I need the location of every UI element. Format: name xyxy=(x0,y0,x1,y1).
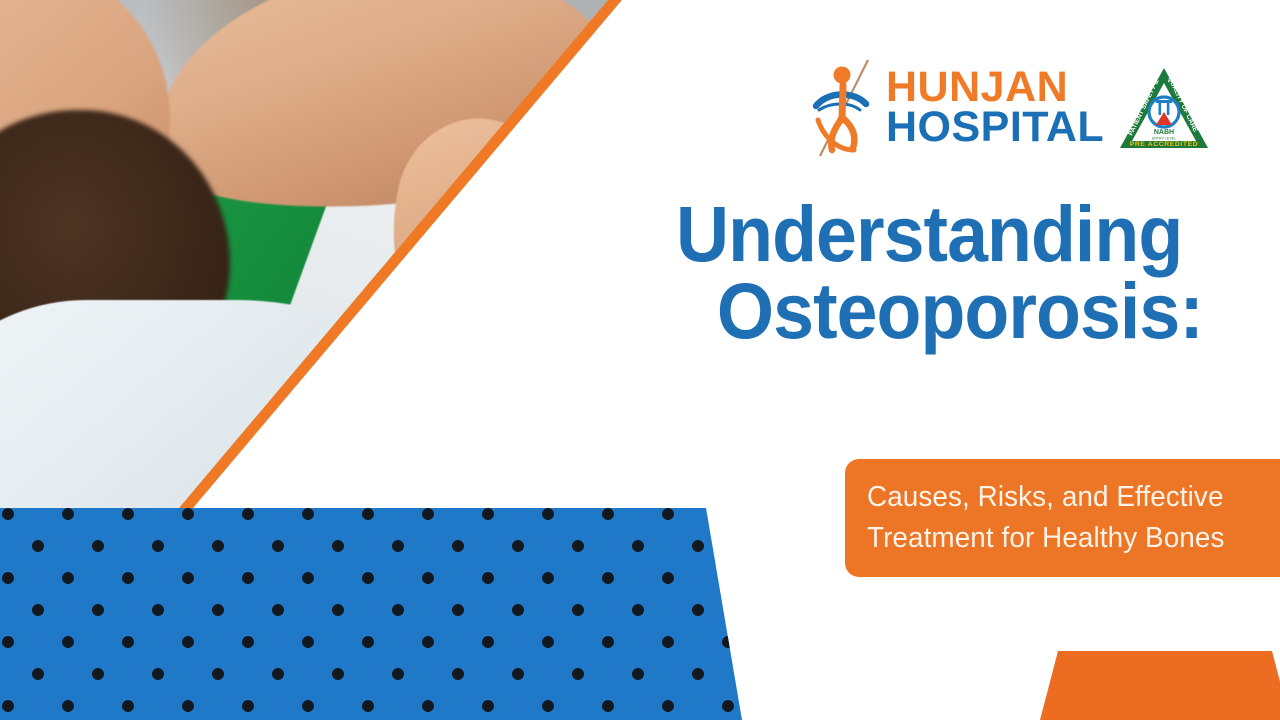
page-title-line-1: Understanding xyxy=(676,189,1182,278)
subtitle-line-2: Treatment for Healthy Bones xyxy=(867,518,1256,559)
subtitle-line-1: Causes, Risks, and Effective xyxy=(867,477,1256,518)
nabh-pre-accredited-badge: NABH ENTRY LEVEL PATIENT SAFETY & QUALIT… xyxy=(1118,64,1210,152)
svg-text:NABH: NABH xyxy=(1154,129,1174,136)
hunjan-runner-icon xyxy=(812,58,876,158)
page-title-line-2: Osteoporosis: xyxy=(717,273,1197,350)
brand-logo[interactable]: HUNJAN HOSPITAL NABH ENTRY LEVEL xyxy=(812,58,1210,158)
blue-dotted-panel xyxy=(0,508,745,720)
subtitle-banner: Causes, Risks, and Effective Treatment f… xyxy=(845,459,1280,577)
orange-trapezoid-decor xyxy=(1040,651,1280,720)
svg-text:PRE ACCREDITED: PRE ACCREDITED xyxy=(1130,141,1199,148)
svg-text:ENTRY LEVEL: ENTRY LEVEL xyxy=(1152,137,1176,141)
banner-root: HUNJAN HOSPITAL NABH ENTRY LEVEL xyxy=(0,0,1280,720)
brand-name-secondary: HOSPITAL xyxy=(886,108,1104,148)
shirt-white-stripe-lower xyxy=(413,253,562,507)
hand-finger xyxy=(460,267,528,373)
brand-wordmark: HUNJAN HOSPITAL xyxy=(886,68,1104,147)
page-title: Understanding Osteoporosis: xyxy=(676,196,1197,349)
hand-finger xyxy=(411,267,494,390)
